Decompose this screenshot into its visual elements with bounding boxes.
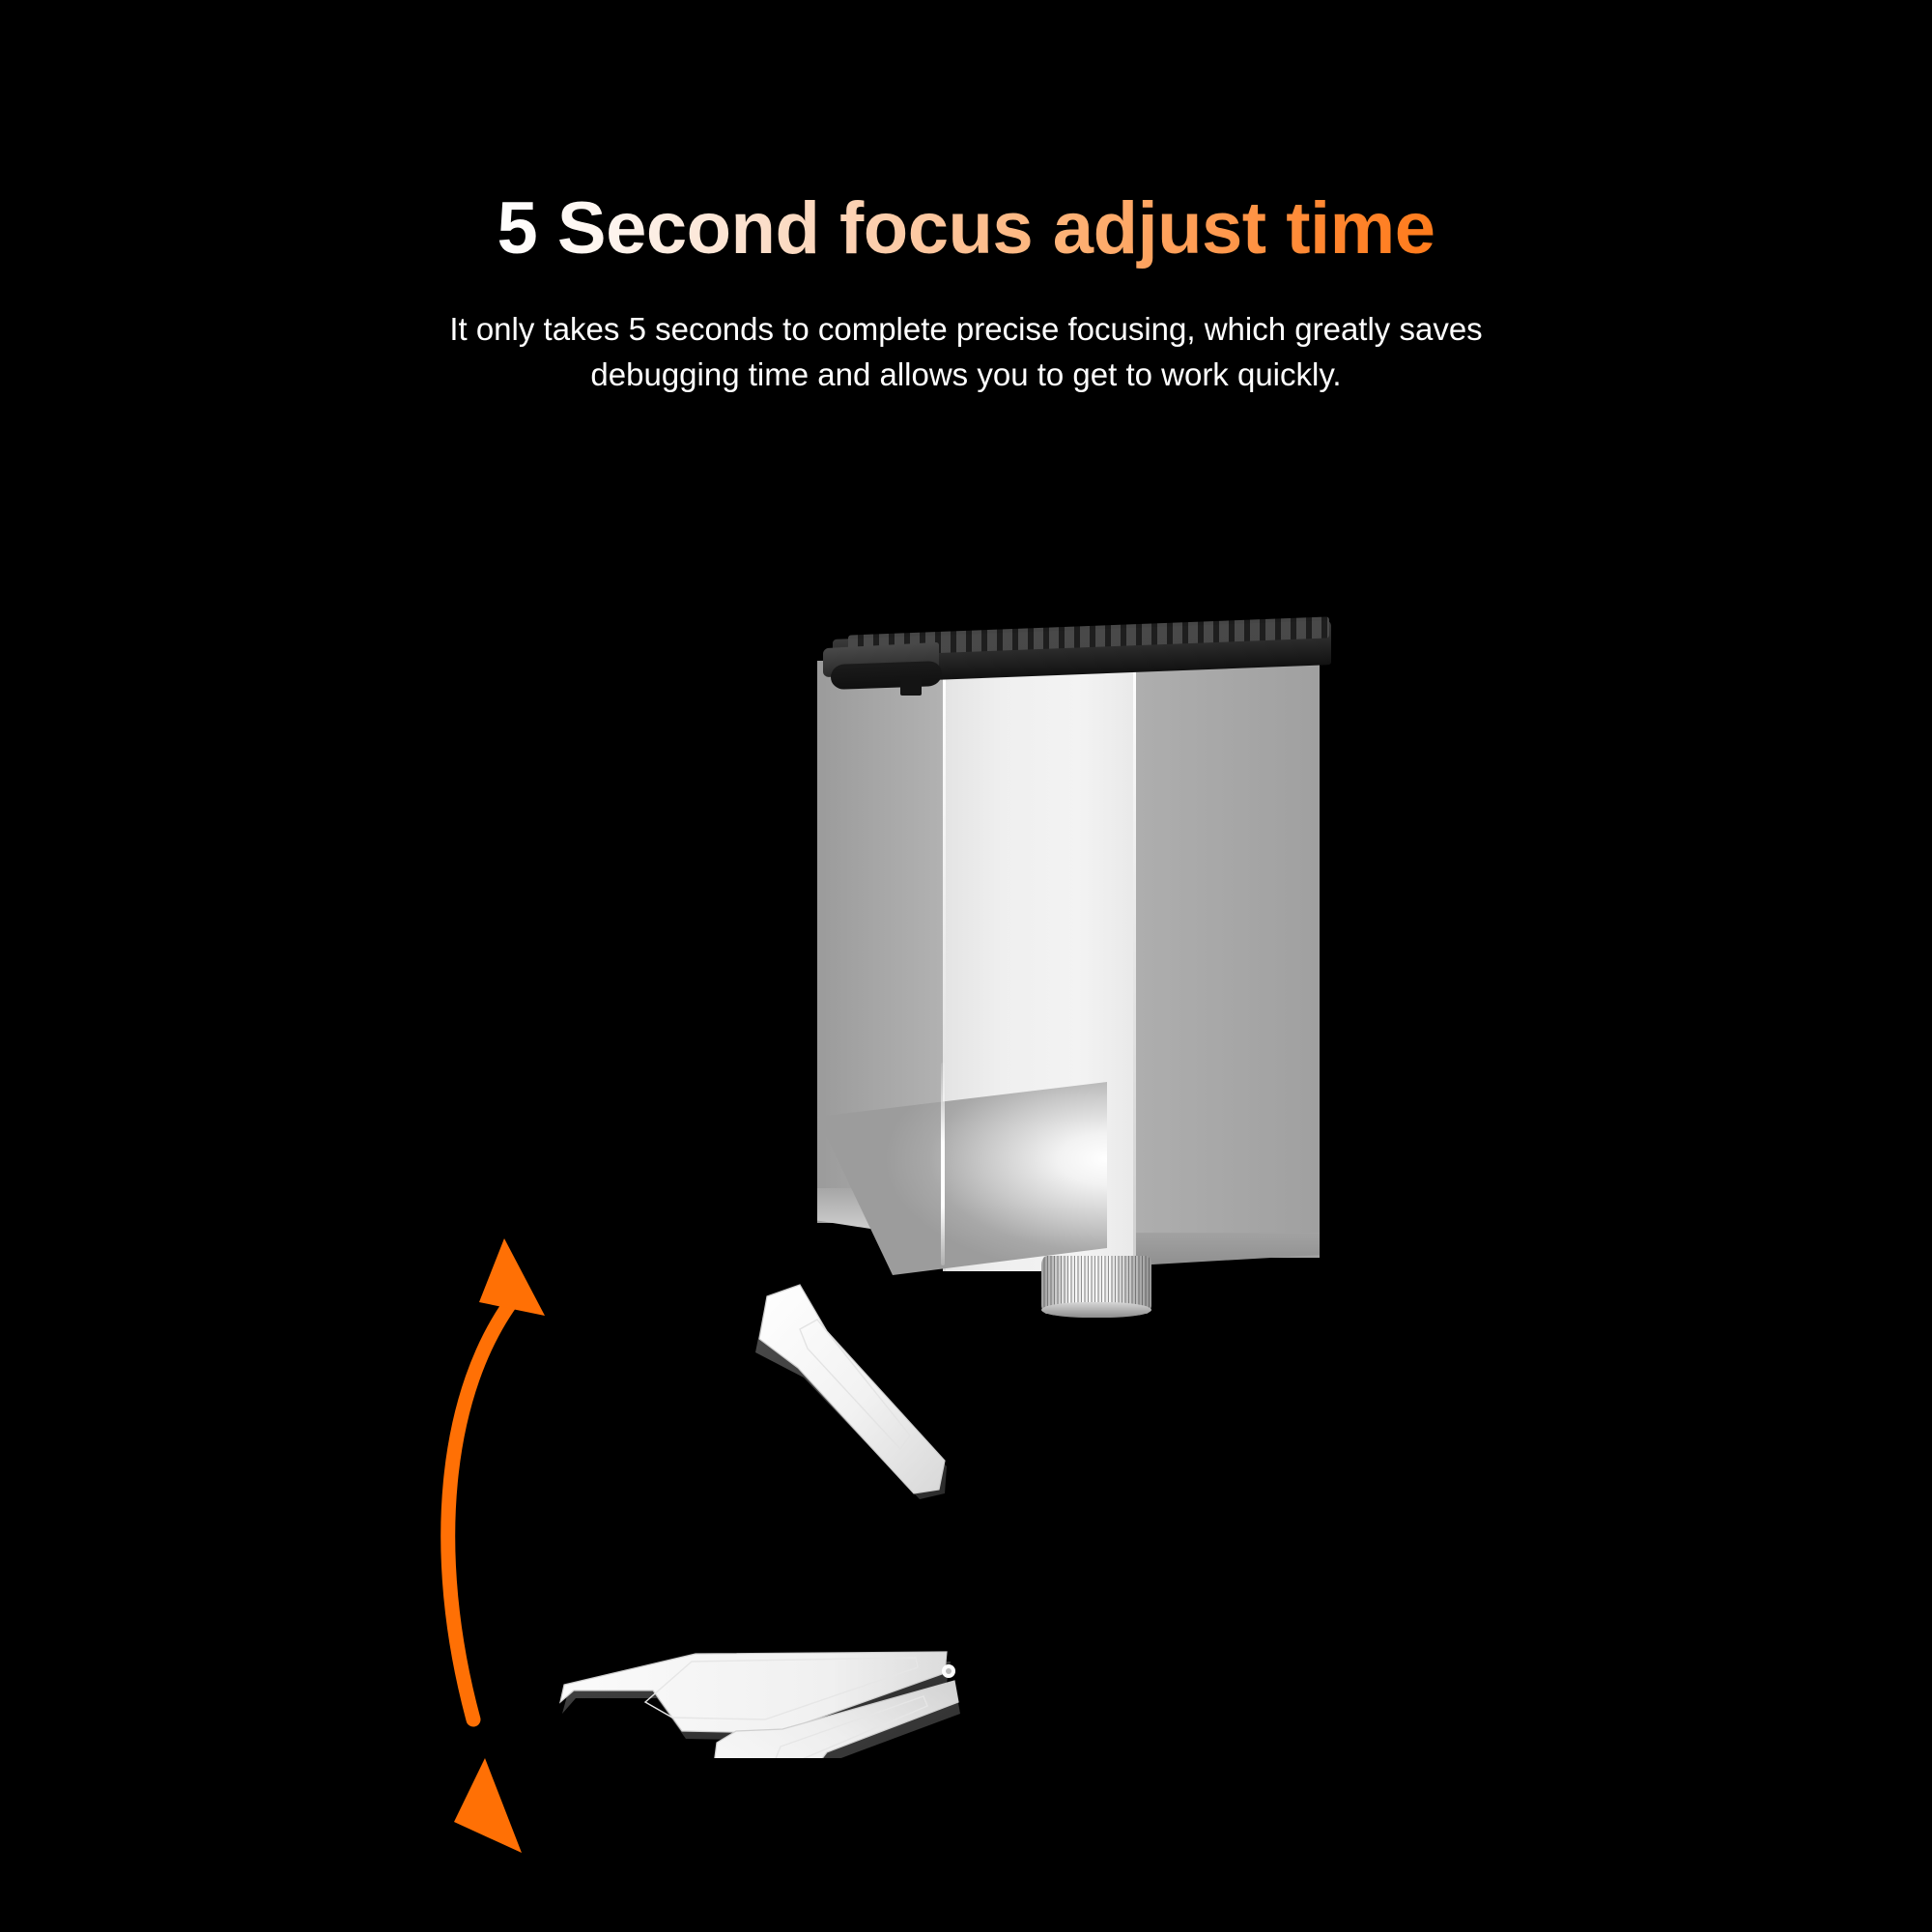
module-housing-right-face [1136,659,1320,1258]
mounting-clip-ring [831,661,942,690]
mounting-clip-stub [900,676,922,696]
rotation-arrow [415,1236,705,1855]
lens-barrel-lip [1041,1302,1151,1318]
focus-knob-hub [942,1664,955,1678]
slide-canvas: 5 Second focus adjust time It only takes… [0,0,1932,1932]
product-image-laser-module [0,0,1932,1932]
module-housing-right-bevel [1136,1233,1320,1265]
housing-inner-spine [941,1063,945,1265]
focus-blade-upper [755,1285,947,1499]
module-housing-edge-right [1133,661,1136,1260]
